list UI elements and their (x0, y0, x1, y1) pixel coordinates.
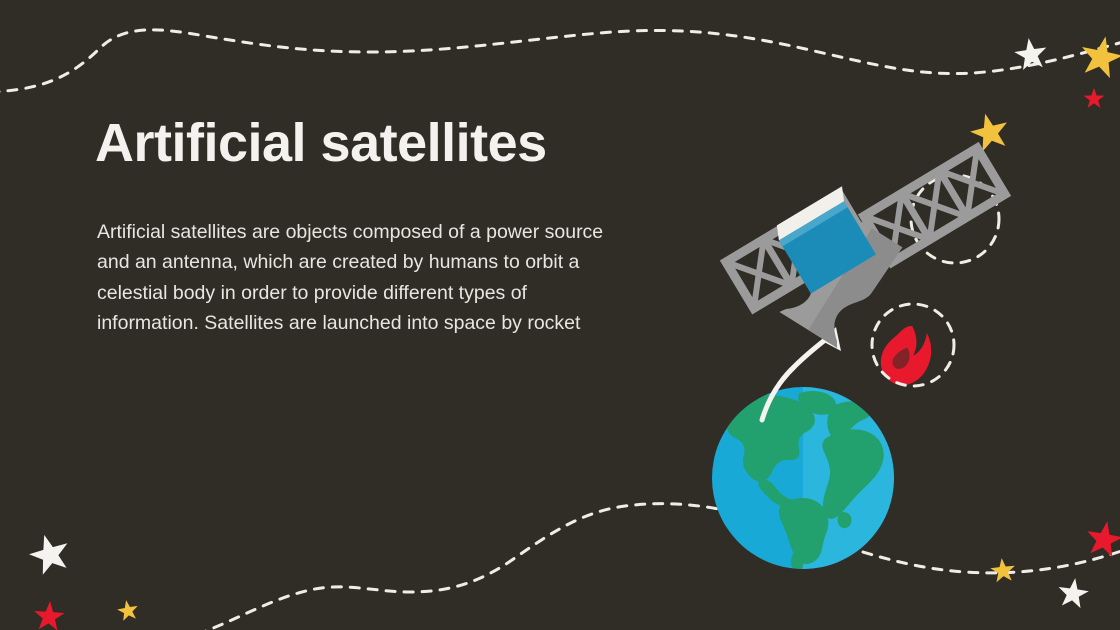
slide-canvas: Artificial satellites Artificial satelli… (0, 0, 1120, 630)
body-paragraph: Artificial satellites are objects compos… (97, 217, 627, 339)
page-title: Artificial satellites (95, 114, 547, 173)
text-layer: Artificial satellites Artificial satelli… (0, 0, 1120, 630)
